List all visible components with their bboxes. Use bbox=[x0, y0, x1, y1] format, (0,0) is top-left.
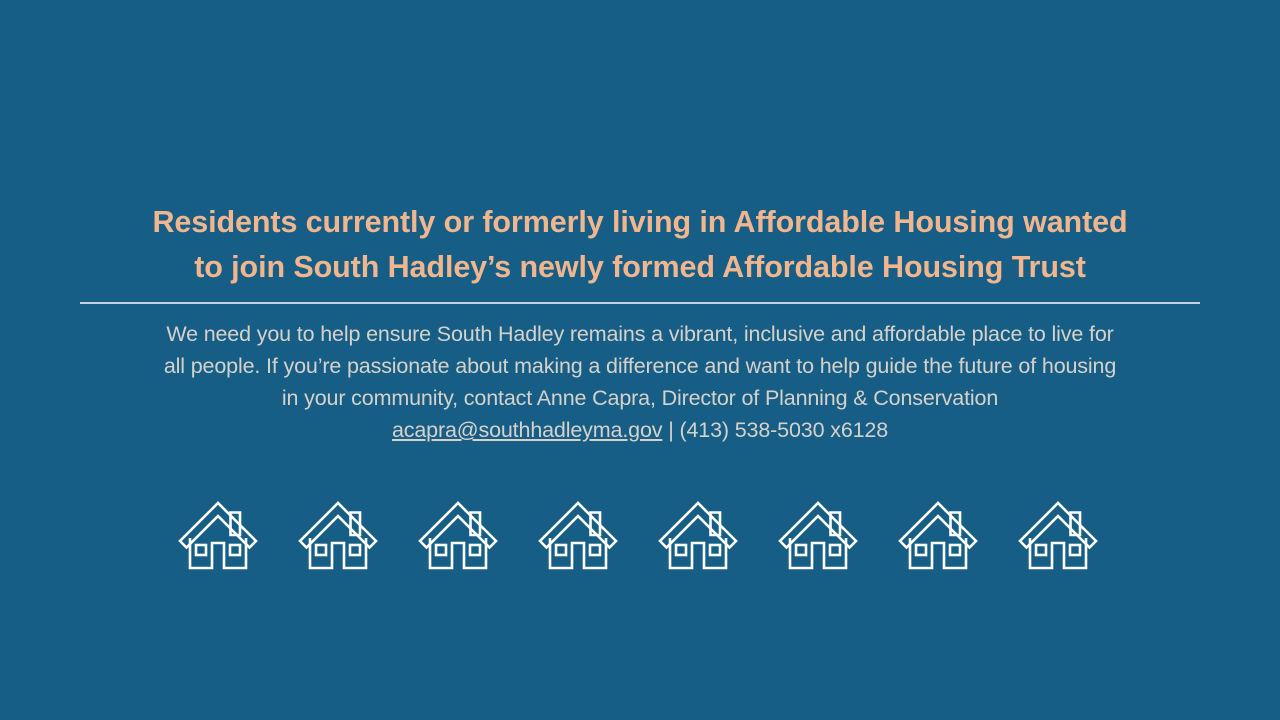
house-window-left bbox=[316, 545, 326, 555]
house-body bbox=[790, 538, 846, 568]
house-window-left bbox=[196, 545, 206, 555]
house-icon bbox=[298, 492, 382, 576]
house-body bbox=[910, 538, 966, 568]
house-window-left bbox=[676, 545, 686, 555]
house-roof bbox=[900, 503, 976, 548]
house-window-right bbox=[470, 545, 480, 555]
house-icon bbox=[1018, 492, 1102, 576]
contact-email-link[interactable]: acapra@southhadleyma.gov bbox=[392, 418, 662, 442]
house-icon bbox=[418, 492, 502, 576]
house-window-right bbox=[950, 545, 960, 555]
title-divider bbox=[80, 302, 1200, 304]
house-body bbox=[550, 538, 606, 568]
house-window-right bbox=[230, 545, 240, 555]
body-text: We need you to help ensure South Hadley … bbox=[64, 318, 1216, 446]
house-roof bbox=[1020, 503, 1096, 548]
house-roof bbox=[300, 503, 376, 548]
house-window-left bbox=[796, 545, 806, 555]
house-body bbox=[310, 538, 366, 568]
house-body bbox=[1030, 538, 1086, 568]
title-heading: Residents currently or formerly living i… bbox=[80, 200, 1200, 290]
title-line-2: to join South Hadley’s newly formed Affo… bbox=[80, 245, 1200, 290]
house-roof bbox=[420, 503, 496, 548]
house-window-right bbox=[1070, 545, 1080, 555]
contact-phone: (413) 538-5030 x6128 bbox=[679, 418, 888, 442]
body-line-1: We need you to help ensure South Hadley … bbox=[64, 318, 1216, 350]
body-line-2: all people. If you’re passionate about m… bbox=[64, 350, 1216, 382]
house-roof bbox=[660, 503, 736, 548]
house-icon bbox=[898, 492, 982, 576]
slide-canvas: Residents currently or formerly living i… bbox=[0, 0, 1280, 720]
house-icon bbox=[658, 492, 742, 576]
house-window-left bbox=[1036, 545, 1046, 555]
house-window-right bbox=[590, 545, 600, 555]
house-icon-row bbox=[178, 492, 1102, 578]
house-window-right bbox=[350, 545, 360, 555]
house-roof bbox=[780, 503, 856, 548]
house-window-right bbox=[710, 545, 720, 555]
house-window-left bbox=[916, 545, 926, 555]
house-body bbox=[670, 538, 726, 568]
house-body bbox=[190, 538, 246, 568]
contact-line: acapra@southhadleyma.gov | (413) 538-503… bbox=[64, 414, 1216, 446]
title-line-1: Residents currently or formerly living i… bbox=[80, 200, 1200, 245]
house-window-right bbox=[830, 545, 840, 555]
house-icon bbox=[178, 492, 262, 576]
house-window-left bbox=[436, 545, 446, 555]
page-title: Residents currently or formerly living i… bbox=[80, 200, 1200, 290]
house-body bbox=[430, 538, 486, 568]
house-window-left bbox=[556, 545, 566, 555]
house-icon bbox=[538, 492, 622, 576]
house-roof bbox=[180, 503, 256, 548]
body-line-3: in your community, contact Anne Capra, D… bbox=[64, 382, 1216, 414]
contact-separator: | bbox=[662, 418, 679, 442]
house-icon bbox=[778, 492, 862, 576]
house-roof bbox=[540, 503, 616, 548]
